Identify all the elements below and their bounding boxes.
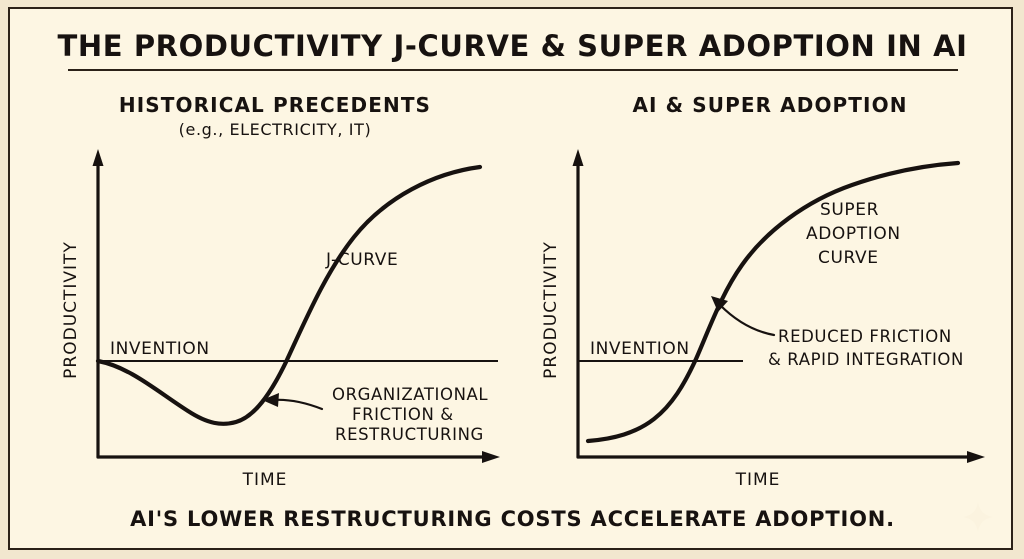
super-adoption-curve-path [588, 163, 958, 441]
annotation-line-2: FRICTION & [352, 405, 454, 424]
annotation-line-1: REDUCED FRICTION [778, 327, 952, 346]
baseline-label-invention: INVENTION [110, 339, 210, 359]
curve-label-j-curve: J-CURVE [325, 250, 398, 270]
baseline-label-invention: INVENTION [590, 339, 690, 359]
sparkle-icon [961, 500, 995, 534]
annotation-line-2: & RAPID INTEGRATION [768, 350, 964, 369]
annotation-line-3: RESTRUCTURING [335, 425, 484, 444]
curve-label-super-adoption: SUPER ADOPTION CURVE [806, 200, 901, 268]
poster-frame: THE PRODUCTIVITY J-CURVE & SUPER ADOPTIO… [8, 7, 1013, 550]
x-axis-label: TIME [242, 470, 288, 490]
curve-label-line-1: SUPER [820, 200, 879, 220]
x-axis-arrowhead [967, 451, 985, 463]
x-axis-label: TIME [735, 470, 781, 490]
page-title: THE PRODUCTIVITY J-CURVE & SUPER ADOPTIO… [10, 29, 1015, 63]
y-axis-label: PRODUCTIVITY [61, 241, 81, 379]
curve-label-line-2: ADOPTION [806, 224, 901, 244]
chart-ai-super-adoption: SUPER ADOPTION CURVE INVENTION REDUCED F… [530, 87, 1010, 507]
annotation-arrow-line [273, 400, 322, 409]
y-axis-arrowhead [93, 149, 104, 166]
curve-label-line-3: CURVE [818, 248, 879, 268]
annotation-line-1: ORGANIZATIONAL [332, 385, 488, 404]
poster-canvas: THE PRODUCTIVITY J-CURVE & SUPER ADOPTIO… [0, 0, 1024, 559]
chart-historical-precedents: J-CURVE INVENTION ORGANIZATIONAL FRICTIO… [30, 87, 520, 507]
y-axis-label: PRODUCTIVITY [541, 241, 561, 379]
footer-caption: AI'S LOWER RESTRUCTURING COSTS ACCELERAT… [10, 507, 1015, 531]
annotation-arrow-line [720, 305, 774, 335]
x-axis-arrowhead [482, 451, 500, 463]
y-axis-arrowhead [573, 149, 584, 166]
title-underline [68, 69, 958, 71]
annotation-organizational-friction: ORGANIZATIONAL FRICTION & RESTRUCTURING [262, 385, 488, 444]
annotation-reduced-friction: REDUCED FRICTION & RAPID INTEGRATION [711, 296, 964, 369]
